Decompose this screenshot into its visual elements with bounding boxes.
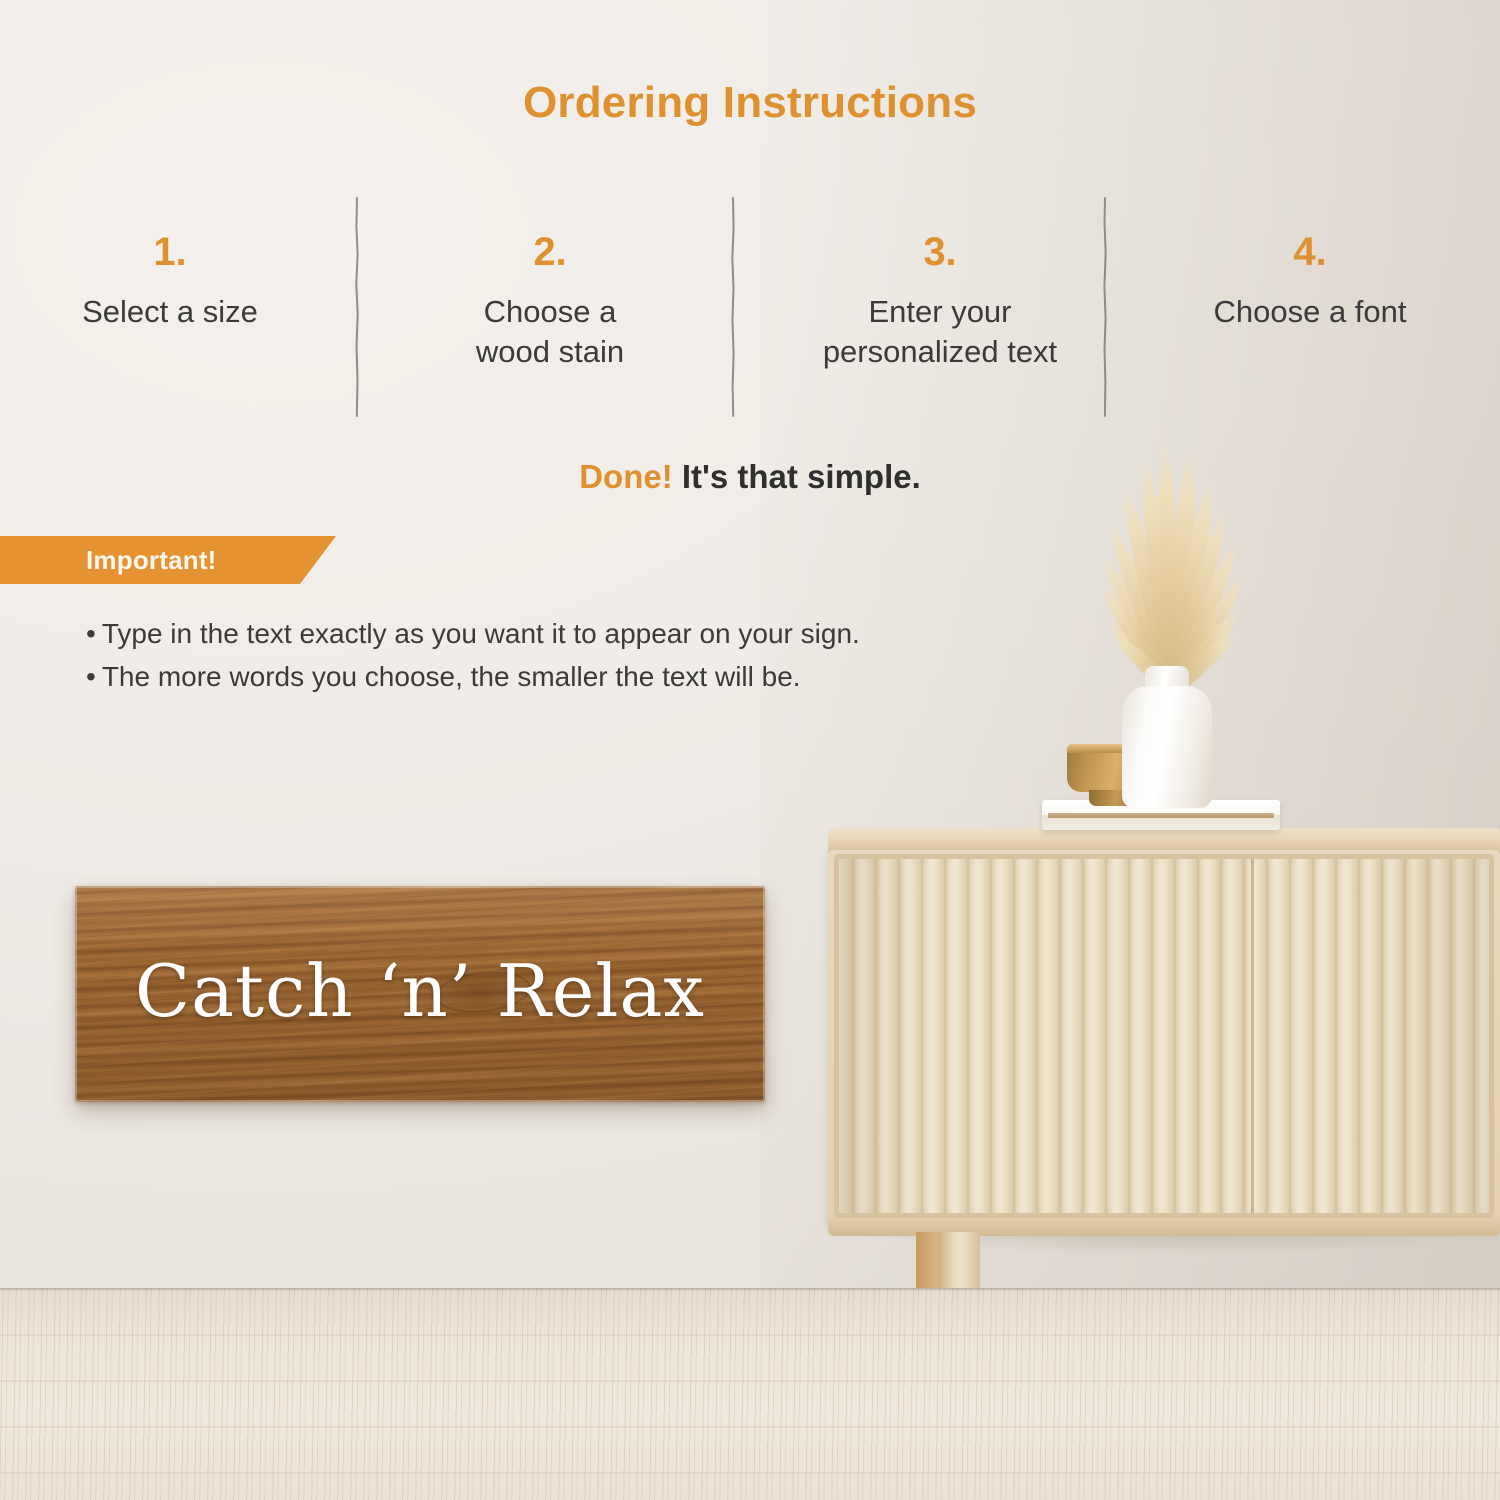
step-divider-2 [728, 196, 738, 418]
wooden-sign: Catch ‘n’ Relax [75, 886, 765, 1102]
bullet-text: Type in the text exactly as you want it … [102, 618, 860, 649]
step-4: 4. Choose a font [1150, 232, 1470, 332]
step-2-label: Choose a wood stain [400, 292, 700, 371]
bullet-item: •Type in the text exactly as you want it… [86, 612, 1186, 655]
step-divider-3 [1100, 196, 1110, 418]
done-highlight: Done! [579, 458, 673, 495]
step-1-label: Select a size [20, 292, 320, 332]
important-banner: Important! [0, 536, 336, 584]
bullet-text: The more words you choose, the smaller t… [102, 661, 801, 692]
page-title: Ordering Instructions [0, 78, 1500, 128]
bullet-glyph: • [86, 661, 96, 692]
step-3-number: 3. [775, 232, 1105, 272]
step-1-number: 1. [20, 232, 320, 272]
important-banner-label: Important! [86, 545, 217, 576]
step-3-label: Enter your personalized text [775, 292, 1105, 371]
bullet-item: •The more words you choose, the smaller … [86, 655, 1186, 698]
step-divider-1 [352, 196, 362, 418]
sign-text: Catch ‘n’ Relax [75, 886, 765, 1102]
step-1: 1. Select a size [20, 232, 320, 332]
steps-row: 1. Select a size 2. Choose a wood stain … [0, 232, 1500, 412]
step-3: 3. Enter your personalized text [775, 232, 1105, 371]
step-4-number: 4. [1150, 232, 1470, 272]
done-line: Done! It's that simple. [0, 458, 1500, 496]
step-4-label: Choose a font [1150, 292, 1470, 332]
instructions-overlay: Ordering Instructions 1. Select a size 2… [0, 0, 1500, 1500]
bullet-glyph: • [86, 618, 96, 649]
step-2-number: 2. [400, 232, 700, 272]
important-bullet-list: •Type in the text exactly as you want it… [86, 612, 1186, 699]
done-rest: It's that simple. [682, 458, 921, 495]
step-2: 2. Choose a wood stain [400, 232, 700, 371]
